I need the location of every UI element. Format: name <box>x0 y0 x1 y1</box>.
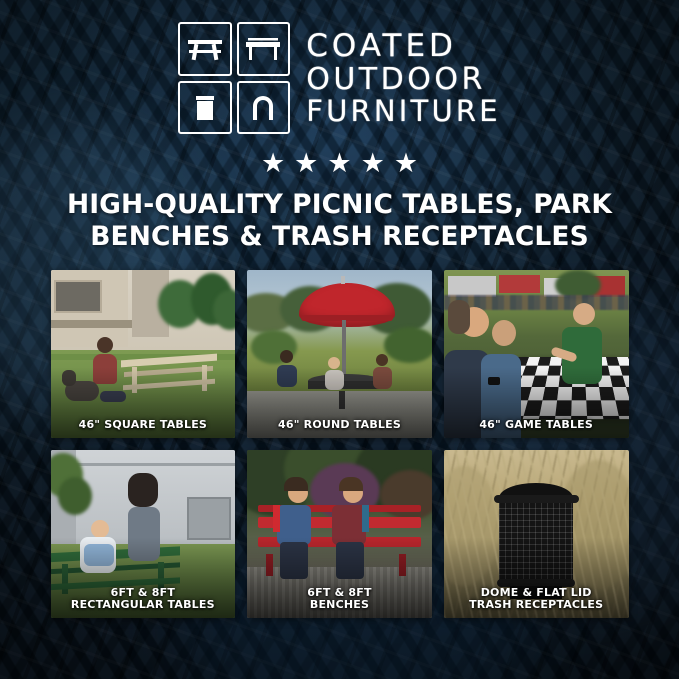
product-caption-line-1: 46" ROUND TABLES <box>278 418 401 431</box>
logo-word-1: COATED <box>306 31 501 63</box>
product-tile-square-tables[interactable]: 46" SQUARE TABLES <box>51 270 236 438</box>
bench-icon <box>237 22 291 76</box>
product-tile-game-tables[interactable]: 46" GAME TABLES <box>444 270 629 438</box>
product-caption: 46" ROUND TABLES <box>247 419 432 431</box>
headline-line-1: HIGH-QUALITY PICNIC TABLES, PARK <box>30 189 649 221</box>
product-grid: 46" SQUARE TABLES <box>51 270 629 618</box>
trash-receptacle-icon <box>178 81 232 135</box>
promo-banner: COATED OUTDOOR FURNITURE ★ ★ ★ ★ ★ HIGH-… <box>0 0 679 679</box>
product-tile-benches[interactable]: 6FT & 8FT BENCHES <box>247 450 432 618</box>
product-caption: 6FT & 8FT RECTANGULAR TABLES <box>51 587 236 612</box>
picnic-table-icon <box>178 22 232 76</box>
product-photo-square-tables <box>51 270 236 438</box>
star-icon: ★ <box>361 150 385 177</box>
logo-word-2: OUTDOOR <box>306 65 501 96</box>
product-caption: 46" SQUARE TABLES <box>51 419 236 431</box>
star-rating: ★ ★ ★ ★ ★ <box>0 150 679 177</box>
logo-wordmark: COATED OUTDOOR FURNITURE <box>306 29 501 127</box>
product-caption: 46" GAME TABLES <box>444 419 629 431</box>
star-icon: ★ <box>394 150 418 177</box>
product-caption-line-2: TRASH RECEPTACLES <box>448 599 625 611</box>
star-icon: ★ <box>261 150 285 177</box>
product-caption-line-1: 46" GAME TABLES <box>479 418 593 431</box>
headline-line-2: BENCHES & TRASH RECEPTACLES <box>30 221 649 253</box>
headline: HIGH-QUALITY PICNIC TABLES, PARK BENCHES… <box>0 189 679 254</box>
product-caption-line-2: BENCHES <box>251 599 428 611</box>
logo-mark <box>178 22 290 134</box>
product-tile-trash-receptacles[interactable]: DOME & FLAT LID TRASH RECEPTACLES <box>444 450 629 618</box>
product-caption: DOME & FLAT LID TRASH RECEPTACLES <box>444 587 629 612</box>
arch-bench-icon <box>237 81 291 135</box>
product-tile-round-tables[interactable]: 46" ROUND TABLES <box>247 270 432 438</box>
product-photo-game-tables <box>444 270 629 438</box>
product-tile-rectangular-tables[interactable]: 6FT & 8FT RECTANGULAR TABLES <box>51 450 236 618</box>
star-icon: ★ <box>294 150 318 177</box>
product-caption-line-2: RECTANGULAR TABLES <box>55 599 232 611</box>
star-icon: ★ <box>327 150 351 177</box>
product-caption: 6FT & 8FT BENCHES <box>247 587 432 612</box>
product-caption-line-1: 46" SQUARE TABLES <box>79 418 207 431</box>
logo-word-3: FURNITURE <box>306 97 501 127</box>
product-photo-round-tables <box>247 270 432 438</box>
brand-logo: COATED OUTDOOR FURNITURE <box>0 0 679 134</box>
